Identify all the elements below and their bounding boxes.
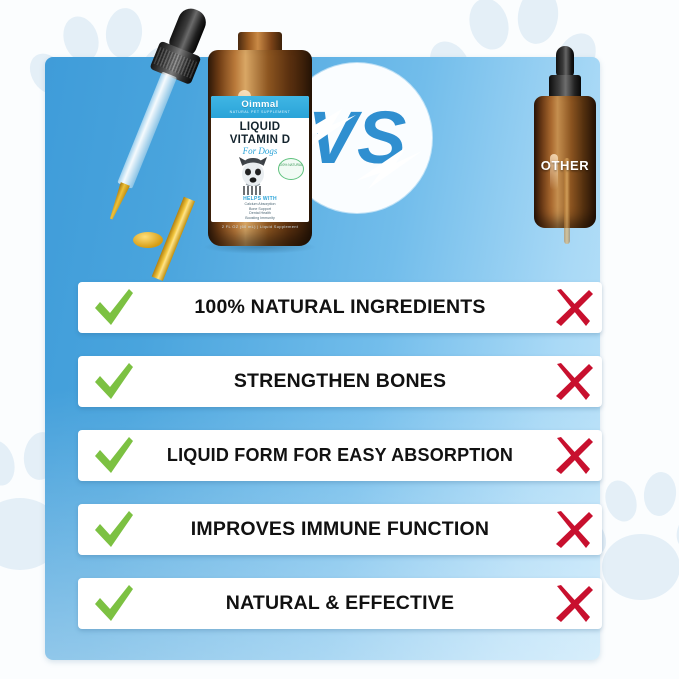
pipette-glass-tube (117, 71, 177, 188)
feature-label: LIQUID FORM FOR EASY ABSORPTION (78, 445, 602, 466)
competitor-dropper-bulb (556, 46, 574, 78)
natural-seal-badge: 100% NATURAL (278, 158, 304, 180)
cross-icon (552, 584, 594, 624)
pipette-tip (107, 182, 131, 221)
cross-icon (552, 362, 594, 402)
check-icon (92, 509, 136, 551)
comparison-row[interactable]: LIQUID FORM FOR EASY ABSORPTION (78, 430, 602, 481)
check-icon (92, 435, 136, 477)
comparison-rows: 100% NATURAL INGREDIENTS STRENGTHEN BONE… (78, 282, 602, 652)
cross-icon (552, 436, 594, 476)
infographic-canvas: VS OTHER (0, 0, 679, 679)
feature-label: IMPROVES IMMUNE FUNCTION (78, 518, 602, 541)
comparison-row[interactable]: IMPROVES IMMUNE FUNCTION (78, 504, 602, 555)
feature-label: NATURAL & EFFECTIVE (78, 592, 602, 615)
feature-label: STRENGTHEN BONES (78, 370, 602, 393)
competitor-bottle: OTHER (532, 46, 598, 230)
comparison-row[interactable]: NATURAL & EFFECTIVE (78, 578, 602, 629)
oil-droplet-secondary (133, 232, 163, 248)
comparison-row[interactable]: STRENGTHEN BONES (78, 356, 602, 407)
feature-label: 100% NATURAL INGREDIENTS (78, 296, 602, 319)
comparison-row[interactable]: 100% NATURAL INGREDIENTS (78, 282, 602, 333)
check-icon (92, 361, 136, 403)
natural-seal-text: 100% NATURAL (279, 163, 303, 167)
hero-section: VS OTHER (45, 0, 600, 270)
pipette-rotation-wrapper (36, 0, 259, 263)
competitor-label-text: OTHER (532, 158, 598, 173)
glass-pipette (115, 6, 255, 256)
cross-icon (552, 288, 594, 328)
check-icon (92, 583, 136, 625)
check-icon (92, 287, 136, 329)
cross-icon (552, 510, 594, 550)
